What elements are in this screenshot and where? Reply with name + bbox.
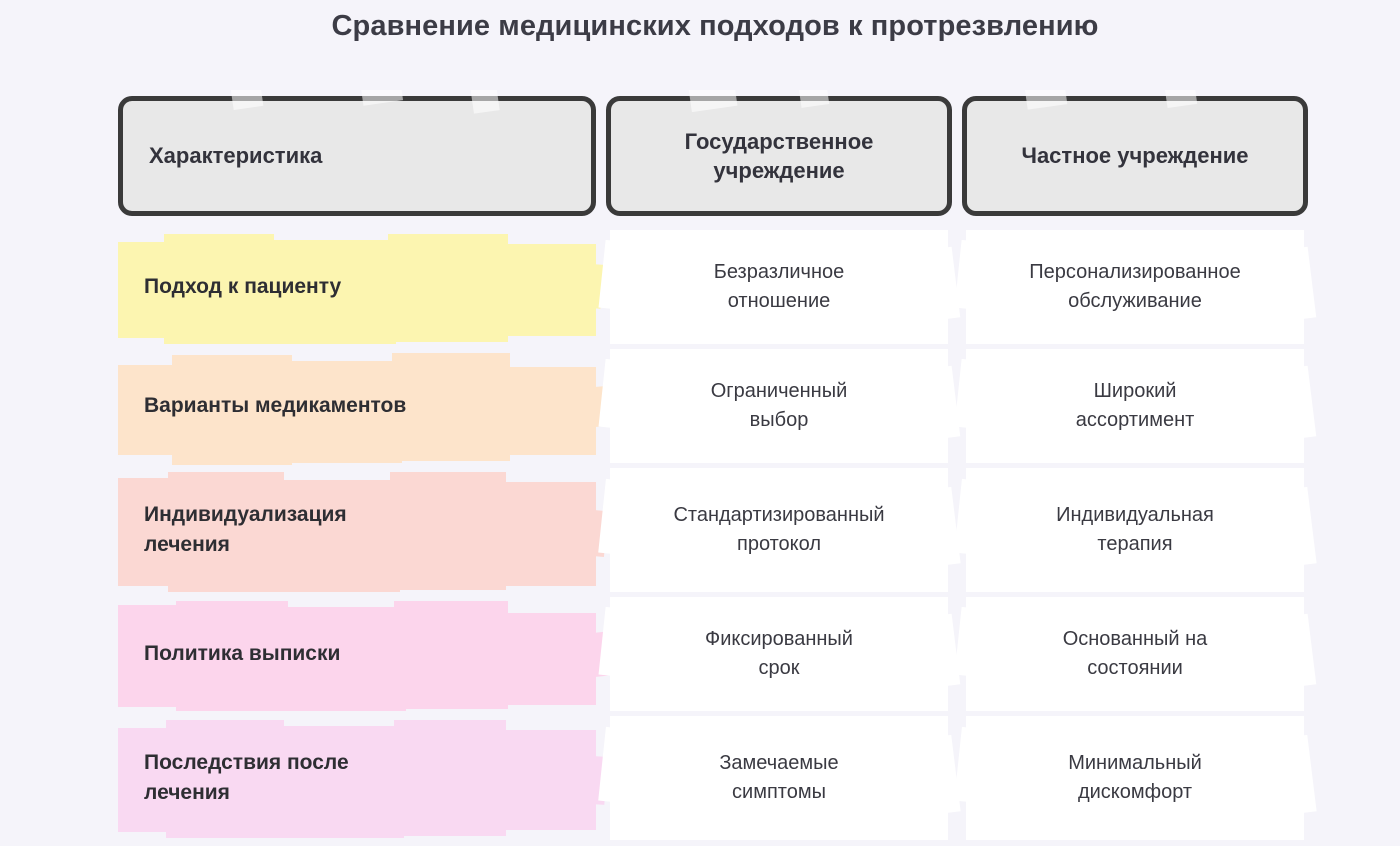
header-cell-feature: Характеристика	[118, 96, 596, 216]
header-label-feature: Характеристика	[149, 141, 322, 170]
row-value-private: Основанный на состоянии	[962, 625, 1308, 683]
row-feature-cell: Последствия после лечения	[118, 714, 596, 842]
row-value-cell-private: Минимальный дискомфорт	[962, 714, 1308, 842]
row-value-public: Фиксированный срок	[606, 625, 952, 683]
table-row: Индивидуализация лечения Стандартизирова…	[118, 466, 1288, 594]
row-feature-cell: Варианты медикаментов	[118, 347, 596, 465]
table-row: Подход к пациенту Безразличное отношение…	[118, 228, 1288, 346]
row-value-cell-public: Стандартизированный протокол	[606, 466, 952, 594]
header-label-public: Государственное учреждение	[625, 127, 933, 185]
row-value-cell-public: Ограниченный выбор	[606, 347, 952, 465]
row-value-cell-public: Безразличное отношение	[606, 228, 952, 346]
column-gap	[952, 96, 962, 216]
column-gap	[596, 96, 606, 216]
comparison-table: Характеристика Государственное учреждени…	[118, 96, 1288, 843]
page-title: Сравнение медицинских подходов к протрез…	[0, 10, 1400, 43]
header-label-private: Частное учреждение	[1021, 141, 1248, 170]
row-feature-label: Варианты медикаментов	[118, 391, 406, 421]
row-feature-label: Политика выписки	[118, 639, 340, 669]
row-feature-cell: Подход к пациенту	[118, 228, 596, 346]
row-feature-cell: Индивидуализация лечения	[118, 466, 596, 594]
row-feature-cell: Политика выписки	[118, 595, 596, 713]
table-header-row: Характеристика Государственное учреждени…	[118, 96, 1288, 216]
header-cell-private: Частное учреждение	[962, 96, 1308, 216]
row-value-private: Минимальный дискомфорт	[962, 749, 1308, 807]
row-value-cell-private: Основанный на состоянии	[962, 595, 1308, 713]
row-feature-label: Подход к пациенту	[118, 272, 341, 302]
row-feature-label: Последствия после лечения	[118, 748, 349, 808]
row-value-private: Персонализированное обслуживание	[962, 258, 1308, 316]
row-value-public: Замечаемые симптомы	[606, 749, 952, 807]
row-value-cell-private: Индивидуальная терапия	[962, 466, 1308, 594]
row-value-private: Индивидуальная терапия	[962, 501, 1308, 559]
row-value-cell-public: Фиксированный срок	[606, 595, 952, 713]
row-value-cell-private: Персонализированное обслуживание	[962, 228, 1308, 346]
header-cell-public: Государственное учреждение	[606, 96, 952, 216]
row-value-cell-private: Широкий ассортимент	[962, 347, 1308, 465]
row-value-public: Стандартизированный протокол	[606, 501, 952, 559]
row-value-public: Ограниченный выбор	[606, 377, 952, 435]
row-value-private: Широкий ассортимент	[962, 377, 1308, 435]
table-row: Варианты медикаментов Ограниченный выбор…	[118, 347, 1288, 465]
table-row: Политика выписки Фиксированный срок Осно…	[118, 595, 1288, 713]
row-feature-label: Индивидуализация лечения	[118, 500, 347, 560]
row-value-public: Безразличное отношение	[606, 258, 952, 316]
row-value-cell-public: Замечаемые симптомы	[606, 714, 952, 842]
table-row: Последствия после лечения Замечаемые сим…	[118, 714, 1288, 842]
